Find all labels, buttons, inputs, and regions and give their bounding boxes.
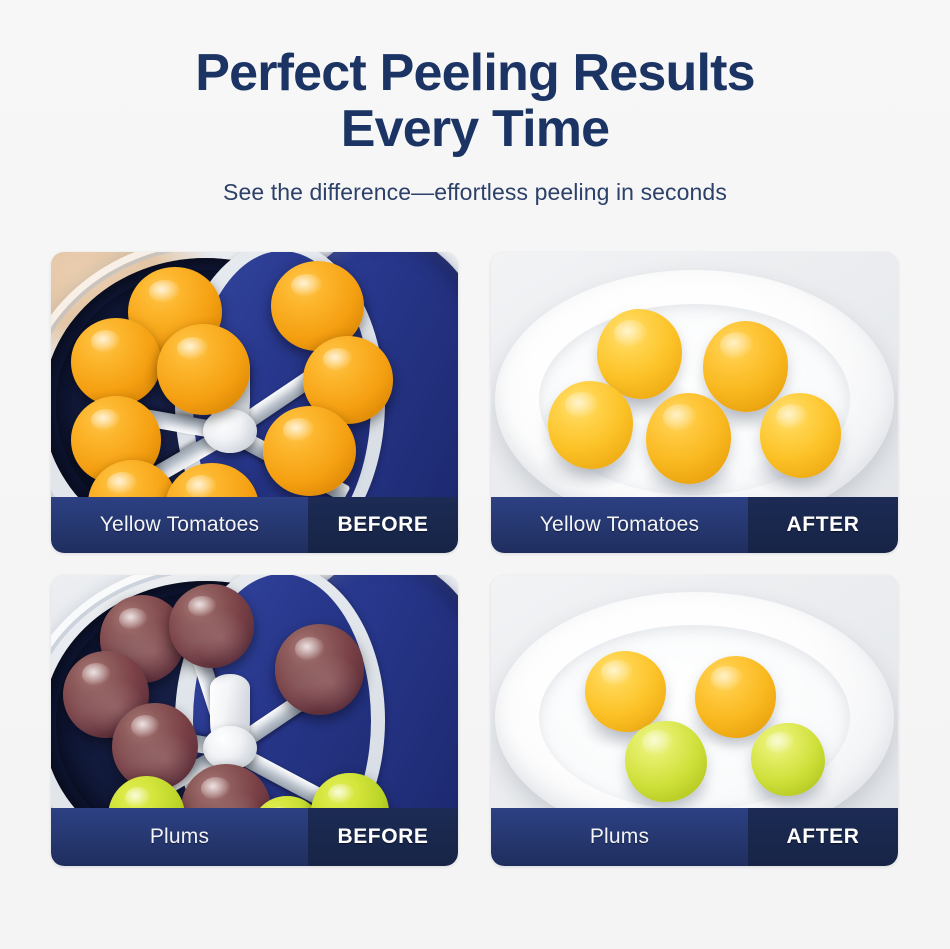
card-state-badge: BEFORE — [308, 808, 458, 866]
card-label-bar: Yellow Tomatoes BEFORE — [51, 497, 458, 553]
card-state-badge: AFTER — [748, 808, 898, 866]
peeled-tomato — [703, 321, 788, 411]
page-title-line-2: Every Time — [0, 102, 950, 158]
card-state-badge: BEFORE — [308, 497, 458, 553]
card-label-bar: Yellow Tomatoes AFTER — [491, 497, 898, 553]
card-name-label: Yellow Tomatoes — [51, 497, 308, 553]
tomato-fruit — [157, 324, 251, 414]
comparison-card-plums-before[interactable]: Plums BEFORE — [51, 575, 458, 866]
peeled-plum — [751, 723, 824, 796]
card-name-label: Yellow Tomatoes — [491, 497, 748, 553]
peeled-plum — [625, 721, 706, 802]
card-name-label: Plums — [51, 808, 308, 866]
peeler-hub-cap — [203, 409, 257, 453]
tomato-fruit — [263, 406, 357, 496]
card-label-bar: Plums AFTER — [491, 808, 898, 866]
plum-fruit — [275, 624, 365, 714]
comparison-card-yellow-tomatoes-before[interactable]: Yellow Tomatoes BEFORE — [51, 252, 458, 553]
card-label-bar: Plums BEFORE — [51, 808, 458, 866]
page-subtitle: See the difference—effortless peeling in… — [0, 179, 950, 206]
header: Perfect Peeling Results Every Time See t… — [0, 46, 950, 206]
comparison-card-yellow-tomatoes-after[interactable]: Yellow Tomatoes AFTER — [491, 252, 898, 553]
comparison-card-plums-after[interactable]: Plums AFTER — [491, 575, 898, 866]
page-title-line-1: Perfect Peeling Results — [195, 44, 755, 102]
card-name-label: Plums — [491, 808, 748, 866]
peeled-tomato — [646, 393, 731, 483]
tomato-fruit — [71, 318, 161, 405]
peeled-tomato — [760, 393, 841, 477]
peeled-plum — [585, 651, 666, 732]
peeled-plum — [695, 656, 776, 737]
page-title: Perfect Peeling Results Every Time — [0, 46, 950, 157]
promo-page: Perfect Peeling Results Every Time See t… — [0, 0, 950, 949]
plum-fruit — [169, 584, 254, 668]
comparison-grid: Yellow Tomatoes BEFORE — [51, 252, 898, 866]
peeled-tomato — [548, 381, 633, 468]
card-state-badge: AFTER — [748, 497, 898, 553]
